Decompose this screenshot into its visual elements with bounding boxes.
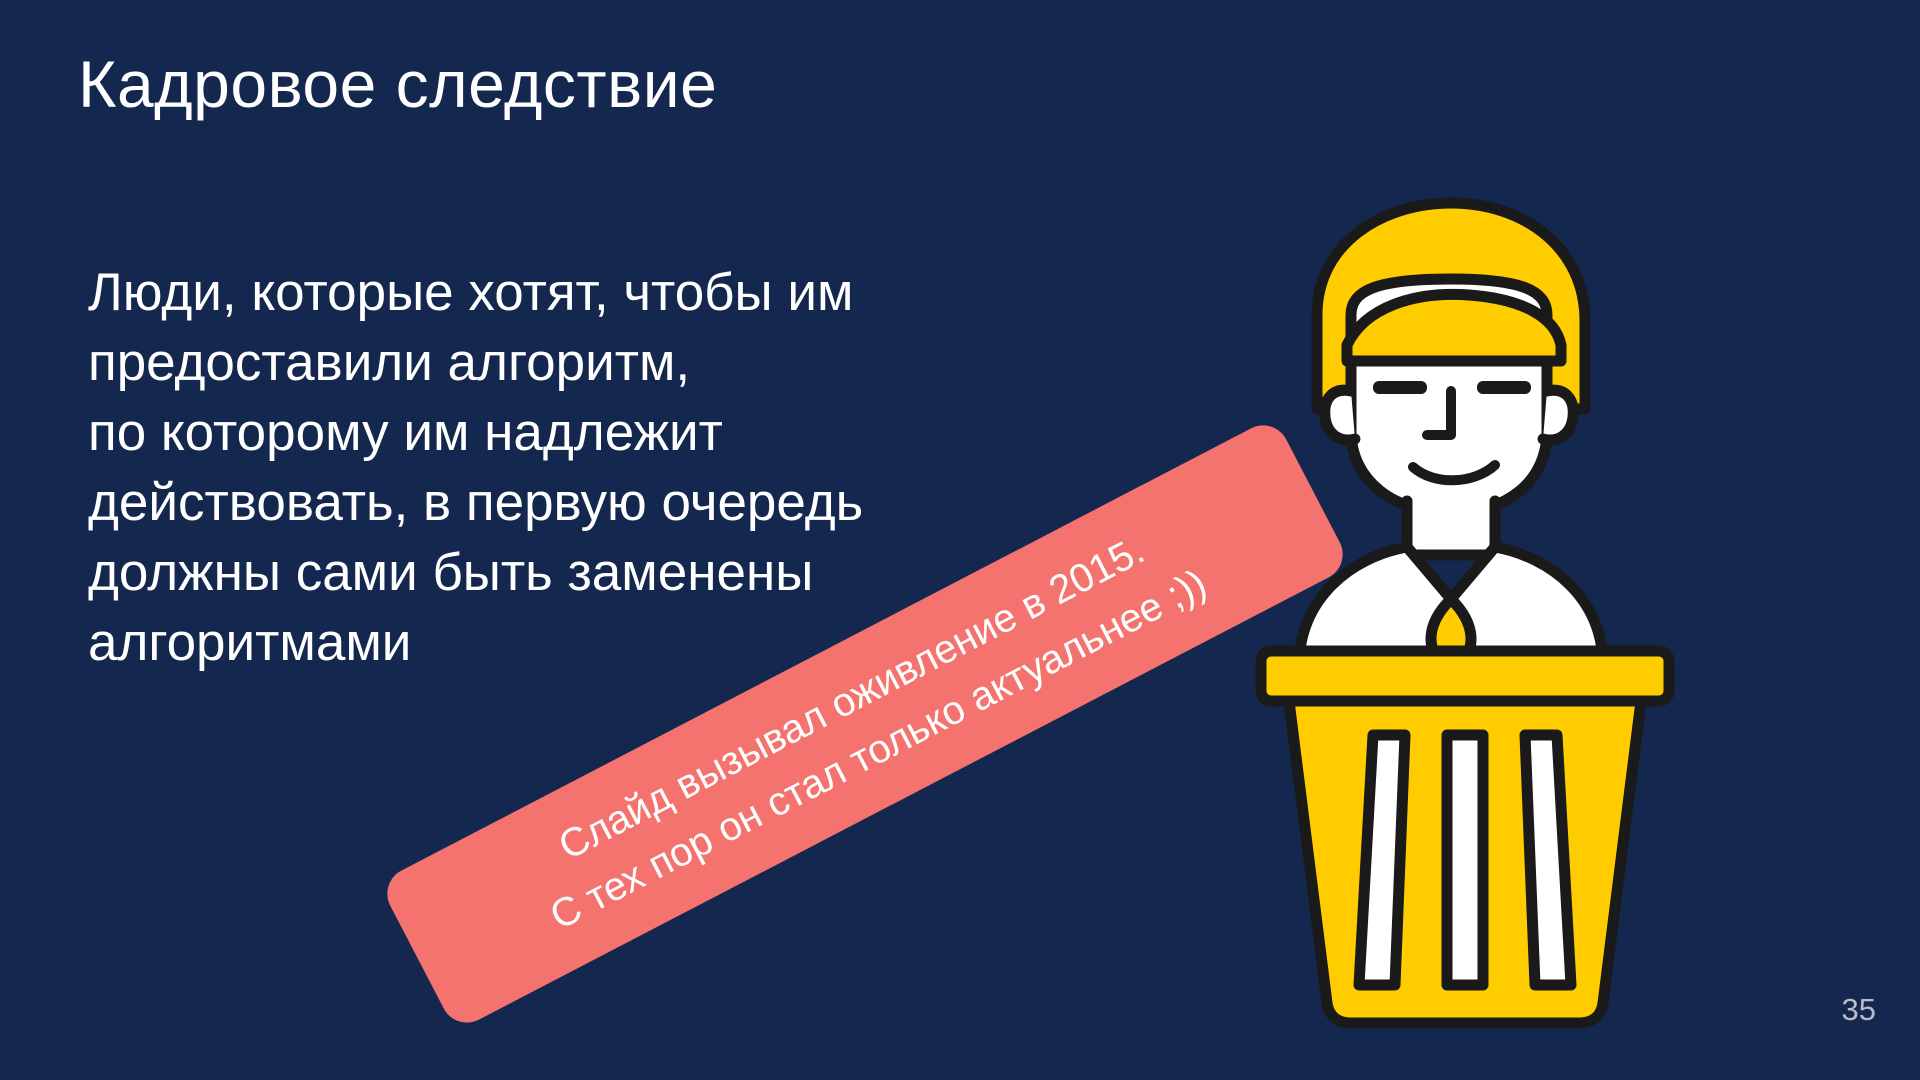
- bin-slot-left: [1359, 735, 1405, 985]
- body-line: действовать, в первую очередь: [88, 468, 1088, 538]
- bin-slot-right: [1525, 735, 1571, 985]
- person-in-trash-can-illustration: [1255, 195, 1675, 1030]
- neck: [1407, 501, 1495, 555]
- body-line: по которому им надлежит: [88, 398, 1088, 468]
- ear-left: [1325, 390, 1355, 440]
- ear-right: [1543, 390, 1573, 440]
- bin-slot-center: [1447, 735, 1483, 985]
- body-line: Люди, которые хотят, чтобы им: [88, 258, 1088, 328]
- presentation-slide: Кадровое следствие Люди, которые хотят, …: [0, 0, 1920, 1080]
- eye-left: [1373, 381, 1427, 394]
- bin-rim: [1261, 651, 1669, 701]
- eye-right: [1477, 381, 1531, 394]
- page-number: 35: [1842, 992, 1876, 1028]
- page-title: Кадровое следствие: [78, 48, 717, 121]
- body-line: предоставили алгоритм,: [88, 328, 1088, 398]
